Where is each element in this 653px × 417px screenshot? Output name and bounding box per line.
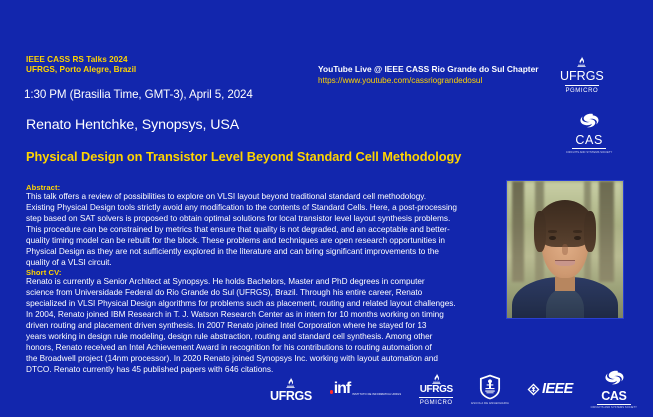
speaker-name: Renato Hentchke, Synopsys, USA — [26, 117, 239, 133]
event-series-line-2: UFRGS, Porto Alegre, Brazil — [26, 65, 136, 75]
short-cv-line: years working in design rule modeling, d… — [26, 332, 491, 343]
inf-subtext-line: INSTITUTO DE INFORMATICA UFRGS — [352, 393, 401, 396]
cas-swirl-icon — [579, 112, 599, 132]
logo-escola-de-engenharia: ESCOLA DE ENGENHARIA — [471, 374, 509, 405]
event-series-line-1: IEEE CASS RS Talks 2024 — [26, 55, 136, 65]
abstract-line: Existing Physical Design tools strictly … — [26, 203, 491, 214]
ufrgs-wordmark-top: UFRGS — [560, 69, 604, 83]
ieee-wordmark: IEEE — [542, 381, 573, 397]
photo-eyebrow — [573, 230, 582, 233]
photo-tree — [512, 181, 525, 282]
talk-title: Physical Design on Transistor Level Beyo… — [26, 149, 461, 164]
cas-divider — [597, 404, 631, 405]
ufrgs-flame-icon — [284, 376, 297, 389]
engineering-school-seal-icon — [477, 374, 503, 400]
engineering-school-caption: ESCOLA DE ENGENHARIA — [471, 402, 509, 405]
cas-swirl-icon — [604, 369, 624, 389]
event-series-block: IEEE CASS RS Talks 2024 UFRGS, Porto Ale… — [26, 55, 136, 74]
abstract-text: This talk offers a review of possibiliti… — [26, 192, 491, 269]
event-datetime: 1:30 PM (Brasilia Time, GMT-3), April 5,… — [24, 88, 253, 101]
cas-wordmark-top: CAS — [575, 133, 603, 147]
inf-logo-icon: inf INSTITUTO DE INFORMATICA UFRGS — [330, 382, 401, 396]
short-cv-line: specialized in VLSI Physical Design algo… — [26, 299, 491, 310]
youtube-live-block: YouTube Live @ IEEE CASS Rio Grande do S… — [318, 63, 539, 87]
photo-hair-side — [584, 211, 597, 252]
logo-inf-ufrgs: inf INSTITUTO DE INFORMATICA UFRGS — [330, 382, 401, 396]
photo-nose — [562, 244, 568, 255]
ieee-cas-logo-top: CAS CIRCUITS AND SYSTEMS SOCIETY — [566, 112, 612, 154]
pgmicro-ufrgs-wordmark: UFRGS — [420, 385, 453, 395]
youtube-live-label: YouTube Live @ IEEE CASS Rio Grande do S… — [318, 63, 539, 75]
cas-tagline-top: CIRCUITS AND SYSTEMS SOCIETY — [566, 151, 612, 154]
photo-eye — [549, 236, 556, 240]
inf-red-dot-icon — [330, 390, 333, 393]
abstract-line: This talk offers a review of possibiliti… — [26, 192, 491, 203]
sponsor-logo-strip: UFRGS inf INSTITUTO DE INFORMATICA UFRGS… — [0, 365, 653, 413]
ieee-diamond-icon — [527, 383, 540, 396]
photo-hair-side — [534, 211, 547, 252]
cas-divider-top — [572, 148, 606, 149]
short-cv-line: driven routing and placement driven synt… — [26, 321, 491, 332]
short-cv-block: Short CV: Renato is currently a Senior A… — [26, 268, 491, 376]
abstract-line: quality timing model can be rebuilt for … — [26, 236, 491, 247]
short-cv-line: honors, Renato received an Intel Achieve… — [26, 343, 491, 354]
short-cv-line: science from Universidade Federal do Rio… — [26, 288, 491, 299]
abstract-heading: Abstract: — [26, 183, 491, 192]
short-cv-line: In 2004, Renato joined IBM Research in T… — [26, 310, 491, 321]
short-cv-text: Renato is currently a Senior Architect a… — [26, 277, 491, 376]
abstract-block: Abstract: This talk offers a review of p… — [26, 183, 491, 269]
pgmicro-wordmark: PGMICRO — [420, 400, 453, 406]
short-cv-line: the Broadwell project (14nm processor). … — [26, 354, 491, 365]
talk-announcement-slide: IEEE CASS RS Talks 2024 UFRGS, Porto Ale… — [0, 0, 653, 417]
abstract-line: step based on SAT solvers is proposed to… — [26, 214, 491, 225]
pgmicro-divider — [419, 397, 453, 398]
ufrgs-pgmicro-divider-top — [565, 85, 599, 86]
logo-pgmicro: UFRGS PGMICRO — [419, 372, 453, 406]
ufrgs-pgmicro-logo-top: UFRGS PGMICRO — [560, 55, 604, 94]
logo-ieee-cas: CAS CIRCUITS AND SYSTEMS SOCIETY — [591, 369, 637, 409]
photo-tree — [599, 181, 614, 282]
inf-wordmark: inf — [334, 382, 351, 396]
cas-wordmark: CAS — [601, 390, 626, 403]
pgmicro-wordmark-top: PGMICRO — [565, 88, 598, 94]
short-cv-heading: Short CV: — [26, 268, 491, 277]
ufrgs-wordmark: UFRGS — [270, 390, 312, 403]
photo-eyebrow — [548, 230, 557, 233]
logo-ieee: IEEE — [527, 381, 573, 397]
abstract-line: Physical Design as they are not sufficie… — [26, 247, 491, 258]
ufrgs-flame-icon — [575, 55, 588, 68]
abstract-line: This procedure can be constrained by met… — [26, 225, 491, 236]
inf-subtext: INSTITUTO DE INFORMATICA UFRGS — [352, 393, 401, 396]
ieee-logo-row: IEEE — [527, 381, 573, 397]
youtube-live-url[interactable]: https://www.youtube.com/cassriograndedos… — [318, 75, 539, 87]
cas-tagline: CIRCUITS AND SYSTEMS SOCIETY — [591, 406, 637, 409]
short-cv-line: Renato is currently a Senior Architect a… — [26, 277, 491, 288]
speaker-photo — [506, 180, 624, 319]
logo-ufrgs: UFRGS — [270, 376, 312, 403]
